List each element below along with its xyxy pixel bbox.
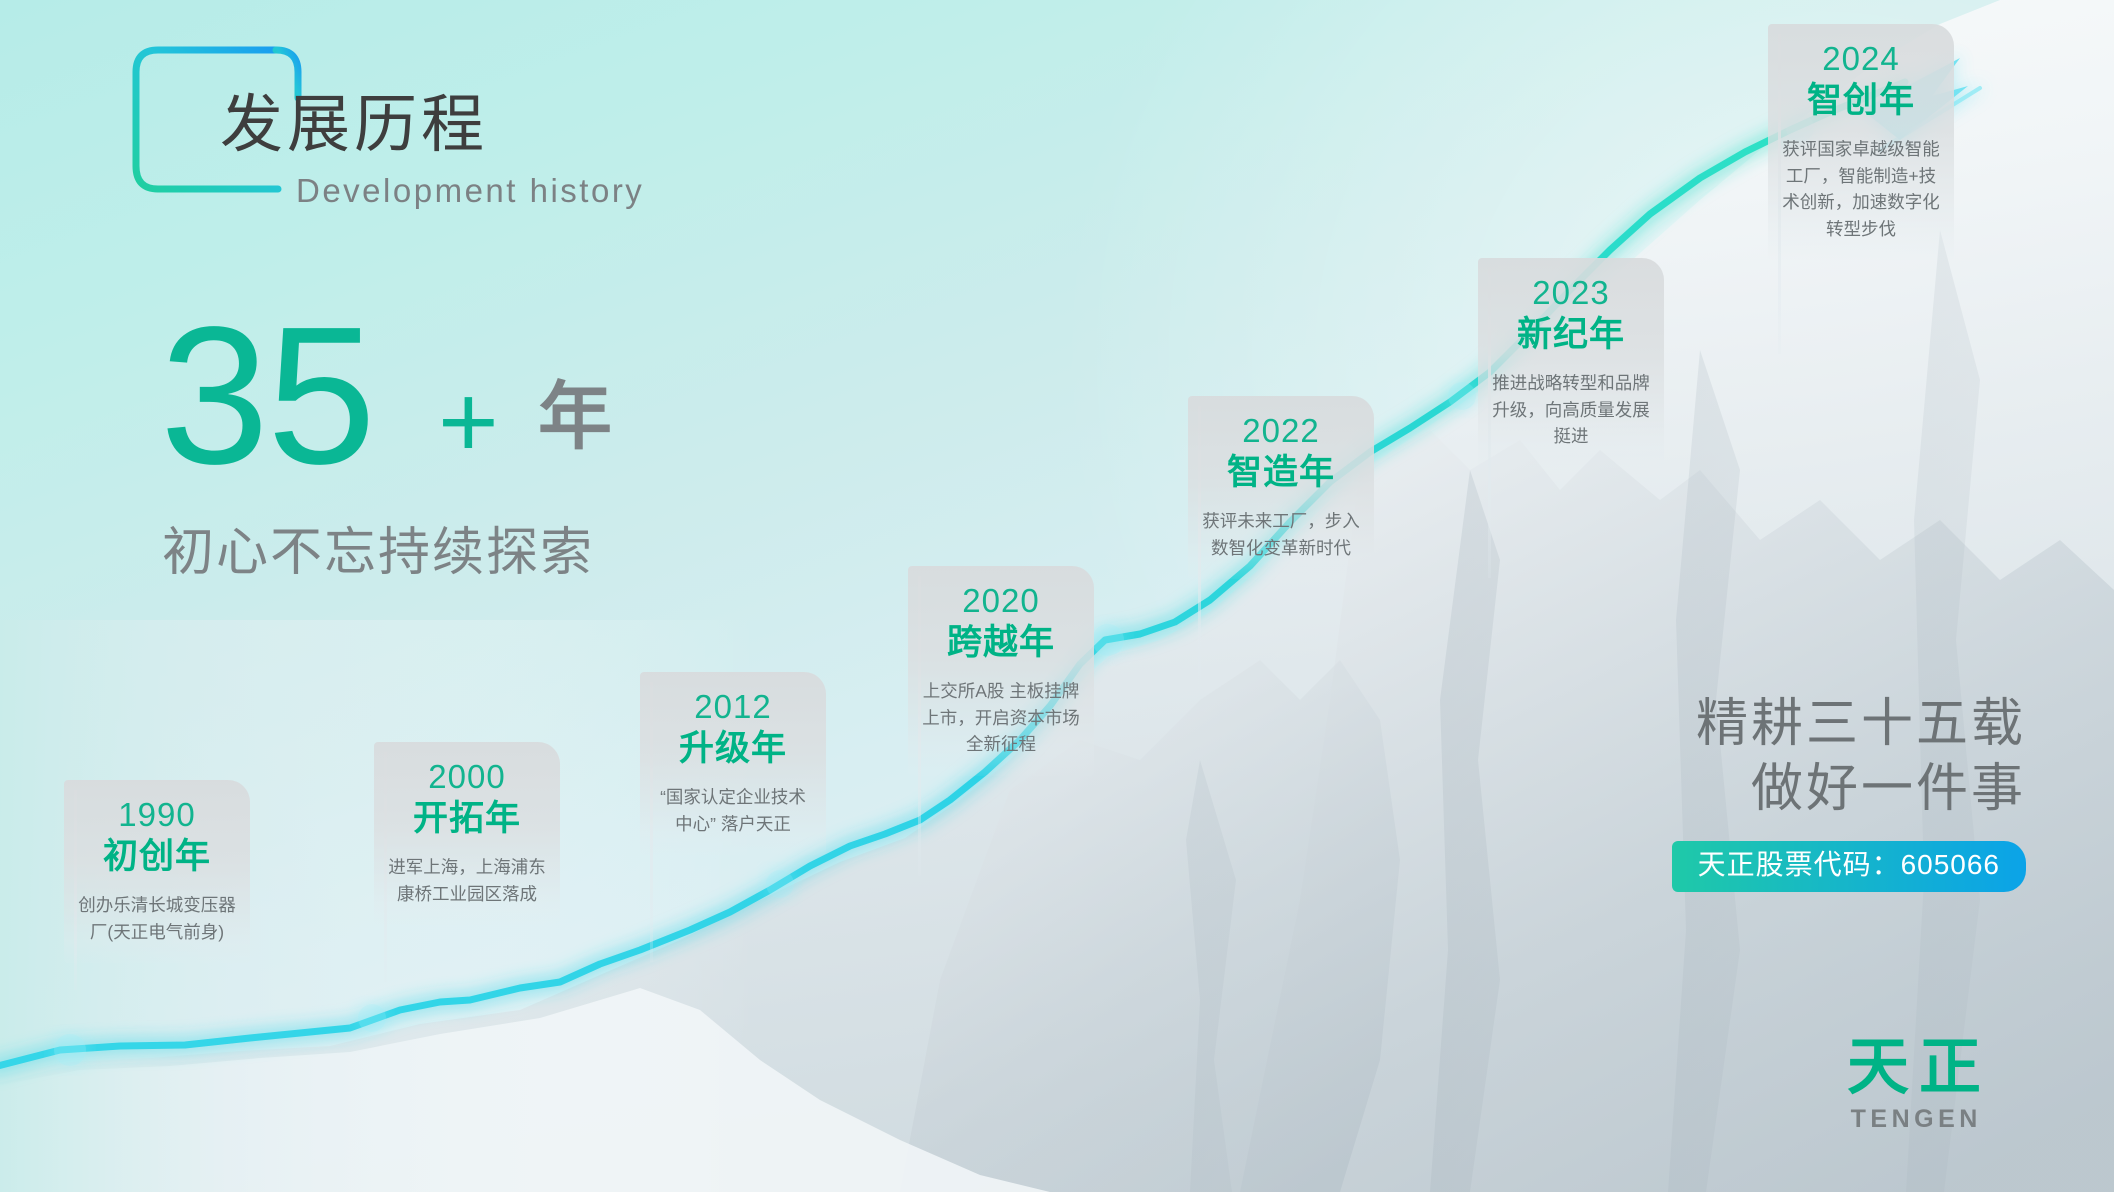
milestone-name: 升级年 xyxy=(648,728,818,770)
milestone-panel: 2012 升级年 “国家认定企业技术中心” 落户天正 xyxy=(640,672,826,855)
milestone-panel: 2020 跨越年 上交所A股 主板挂牌上市，开启资本市场全新征程 xyxy=(908,566,1094,776)
years-plus-sign: + xyxy=(438,370,499,474)
milestone-year: 2022 xyxy=(1196,412,1366,451)
milestone-desc: 进军上海，上海浦东康桥工业园区落成 xyxy=(382,854,552,907)
years-unit: 年 xyxy=(538,380,612,454)
milestone-card-2022[interactable]: 2022 智造年 获评未来工厂，步入数智化变革新时代 xyxy=(1188,396,1374,579)
milestone-name: 开拓年 xyxy=(382,798,552,840)
milestone-year: 2024 xyxy=(1776,40,1946,79)
logo-wordmark-en: TENGEN xyxy=(1814,1105,2014,1134)
milestone-card-2023[interactable]: 2023 新纪年 推进战略转型和品牌升级，向高质量发展挺进 xyxy=(1478,258,1664,468)
years-number: 35 xyxy=(160,298,374,494)
years-stat-block: 35 + 年 初心不忘持续探索 xyxy=(160,322,720,582)
milestone-panel: 1990 初创年 创办乐清长城变压器厂(天正电气前身) xyxy=(64,780,250,963)
milestone-year: 2012 xyxy=(648,688,818,727)
slogan-line-1: 精耕三十五载 xyxy=(1606,692,2026,756)
milestone-panel: 2022 智造年 获评未来工厂，步入数智化变革新时代 xyxy=(1188,396,1374,579)
milestone-desc: 上交所A股 主板挂牌上市，开启资本市场全新征程 xyxy=(916,678,1086,758)
milestone-card-2012[interactable]: 2012 升级年 “国家认定企业技术中心” 落户天正 xyxy=(640,672,826,855)
milestone-name: 新纪年 xyxy=(1486,314,1656,356)
milestone-panel: 2023 新纪年 推进战略转型和品牌升级，向高质量发展挺进 xyxy=(1478,258,1664,468)
milestone-desc: 获评未来工厂，步入数智化变革新时代 xyxy=(1196,508,1366,561)
milestone-name: 跨越年 xyxy=(916,622,1086,664)
years-stat-row: 35 + 年 xyxy=(160,322,720,492)
logo-mark-cn: 天正 xyxy=(1814,1037,2014,1099)
milestone-desc: 创办乐清长城变压器厂(天正电气前身) xyxy=(72,892,242,945)
milestone-year: 1990 xyxy=(72,796,242,835)
tengen-logo: 天正 TENGEN xyxy=(1814,1037,2014,1134)
milestone-year: 2023 xyxy=(1486,274,1656,313)
page-subtitle-en: Development history xyxy=(296,174,644,207)
milestone-desc: “国家认定企业技术中心” 落户天正 xyxy=(648,784,818,837)
milestone-desc: 获评国家卓越级智能工厂，智能制造+技术创新，加速数字化转型步伐 xyxy=(1776,136,1946,242)
milestone-card-2024[interactable]: 2024 智创年 获评国家卓越级智能工厂，智能制造+技术创新，加速数字化转型步伐 xyxy=(1768,24,1954,260)
milestone-card-2020[interactable]: 2020 跨越年 上交所A股 主板挂牌上市，开启资本市场全新征程 xyxy=(908,566,1094,776)
milestone-name: 初创年 xyxy=(72,836,242,878)
milestone-panel: 2000 开拓年 进军上海，上海浦东康桥工业园区落成 xyxy=(374,742,560,925)
page-header: 发展历程 Development history xyxy=(128,42,748,207)
years-stat-subtitle: 初心不忘持续探索 xyxy=(162,510,594,585)
milestone-panel: 2024 智创年 获评国家卓越级智能工厂，智能制造+技术创新，加速数字化转型步伐 xyxy=(1768,24,1954,260)
milestone-name: 智创年 xyxy=(1776,80,1946,122)
stock-code-badge: 天正股票代码：605066 xyxy=(1672,841,2026,892)
milestone-name: 智造年 xyxy=(1196,452,1366,494)
milestone-year: 2020 xyxy=(916,582,1086,621)
brand-slogan-block: 精耕三十五载 做好一件事 天正股票代码：605066 xyxy=(1606,692,2026,892)
milestone-card-1990[interactable]: 1990 初创年 创办乐清长城变压器厂(天正电气前身) xyxy=(64,780,250,963)
milestone-year: 2000 xyxy=(382,758,552,797)
slogan-line-2: 做好一件事 xyxy=(1606,757,2026,821)
milestone-card-2000[interactable]: 2000 开拓年 进军上海，上海浦东康桥工业园区落成 xyxy=(374,742,560,925)
page-title: 发展历程 xyxy=(220,94,488,157)
milestone-desc: 推进战略转型和品牌升级，向高质量发展挺进 xyxy=(1486,370,1656,450)
development-history-poster: 发展历程 Development history 35 + 年 初心不忘持续探索… xyxy=(0,0,2114,1192)
